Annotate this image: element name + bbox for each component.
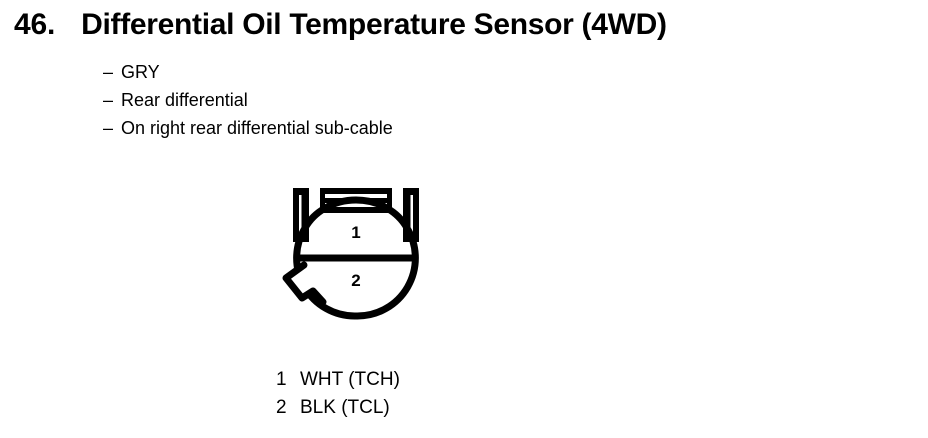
connector-drawing-svg: 1 2 <box>276 176 436 336</box>
pin-legend-wire-label: WHT (TCH) <box>300 366 400 394</box>
spec-list: – GRY – Rear differential – On right rea… <box>103 58 743 142</box>
keyway-notch-icon <box>286 265 323 302</box>
dash-bullet-icon: – <box>103 58 121 86</box>
pin-legend-wire-label: BLK (TCL) <box>300 394 390 422</box>
pin-legend-number: 1 <box>276 366 295 394</box>
spec-list-item: – GRY <box>103 58 743 86</box>
spec-list-item-label: Rear differential <box>121 86 248 114</box>
connector-diagram: 1 2 <box>276 176 436 336</box>
cavity-number-1: 1 <box>351 223 360 242</box>
pin-legend-number: 2 <box>276 394 295 422</box>
pin-legend: 1 WHT (TCH) 2 BLK (TCL) <box>276 366 576 422</box>
spec-list-item: – On right rear differential sub-cable <box>103 114 743 142</box>
section-title-text: Differential Oil Temperature Sensor (4WD… <box>81 8 667 42</box>
section-number: 46. <box>14 8 55 42</box>
spec-list-item: – Rear differential <box>103 86 743 114</box>
cavity-number-2: 2 <box>351 271 360 290</box>
page-canvas: 46. Differential Oil Temperature Sensor … <box>0 0 928 438</box>
spec-list-item-label: On right rear differential sub-cable <box>121 114 393 142</box>
dash-bullet-icon: – <box>103 114 121 142</box>
dash-bullet-icon: – <box>103 86 121 114</box>
pin-legend-row: 2 BLK (TCL) <box>276 394 576 422</box>
page-title: 46. Differential Oil Temperature Sensor … <box>14 8 914 50</box>
spec-list-item-label: GRY <box>121 58 160 86</box>
pin-legend-row: 1 WHT (TCH) <box>276 366 576 394</box>
